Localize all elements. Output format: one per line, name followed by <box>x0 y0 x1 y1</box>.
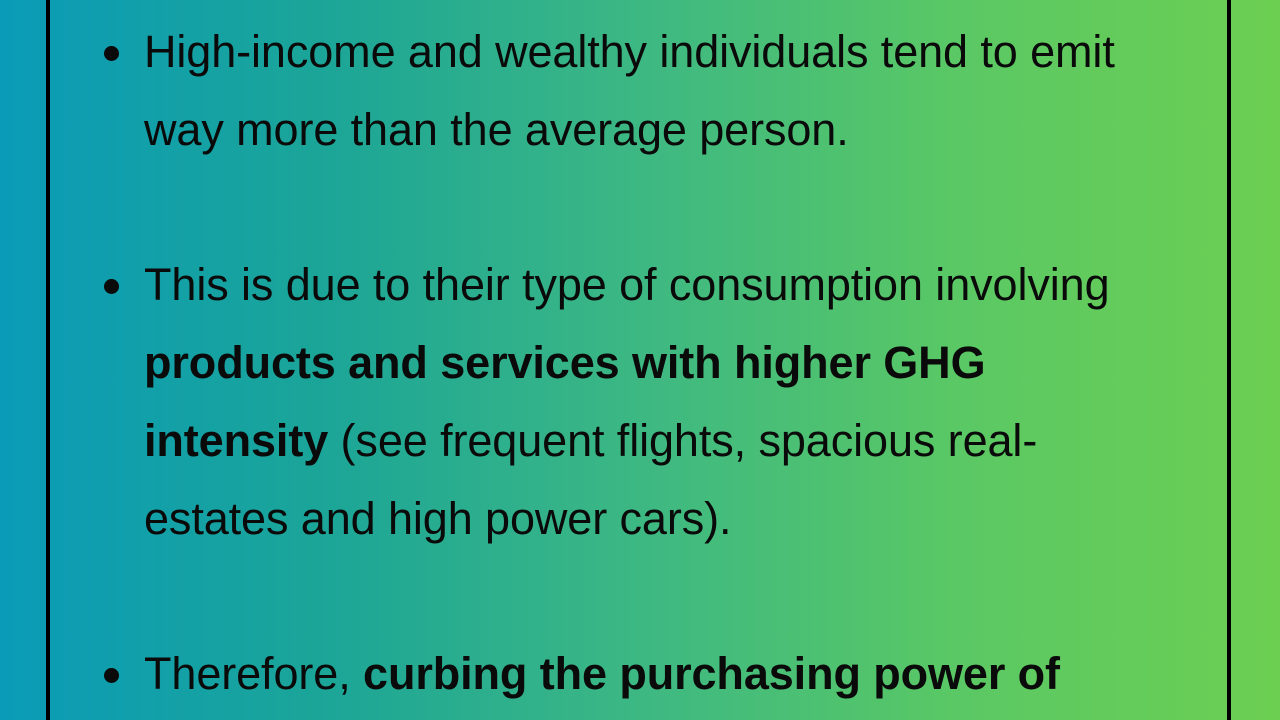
round-bullet-icon <box>104 46 119 61</box>
plain-text: This is due to their type of consumption… <box>144 259 1110 310</box>
right-vertical-rule <box>1227 0 1231 720</box>
list-item-text: This is due to their type of consumption… <box>144 259 1110 544</box>
left-vertical-rule <box>46 0 50 720</box>
list-item: This is due to their type of consumption… <box>100 246 1180 558</box>
plain-text: Therefore, <box>144 648 363 699</box>
list-item: Therefore, curbing the purchasing power … <box>100 635 1180 713</box>
round-bullet-icon <box>104 279 119 294</box>
plain-text: High-income and wealthy individuals tend… <box>144 26 1115 155</box>
list-item-text: High-income and wealthy individuals tend… <box>144 26 1115 155</box>
emphasis-text: curbing the purchasing power of <box>363 648 1060 699</box>
round-bullet-icon <box>104 668 119 683</box>
list-item: High-income and wealthy individuals tend… <box>100 13 1180 169</box>
bullet-list: High-income and wealthy individuals tend… <box>100 0 1180 713</box>
list-item-text: Therefore, curbing the purchasing power … <box>144 648 1060 699</box>
slide-canvas: High-income and wealthy individuals tend… <box>0 0 1280 720</box>
